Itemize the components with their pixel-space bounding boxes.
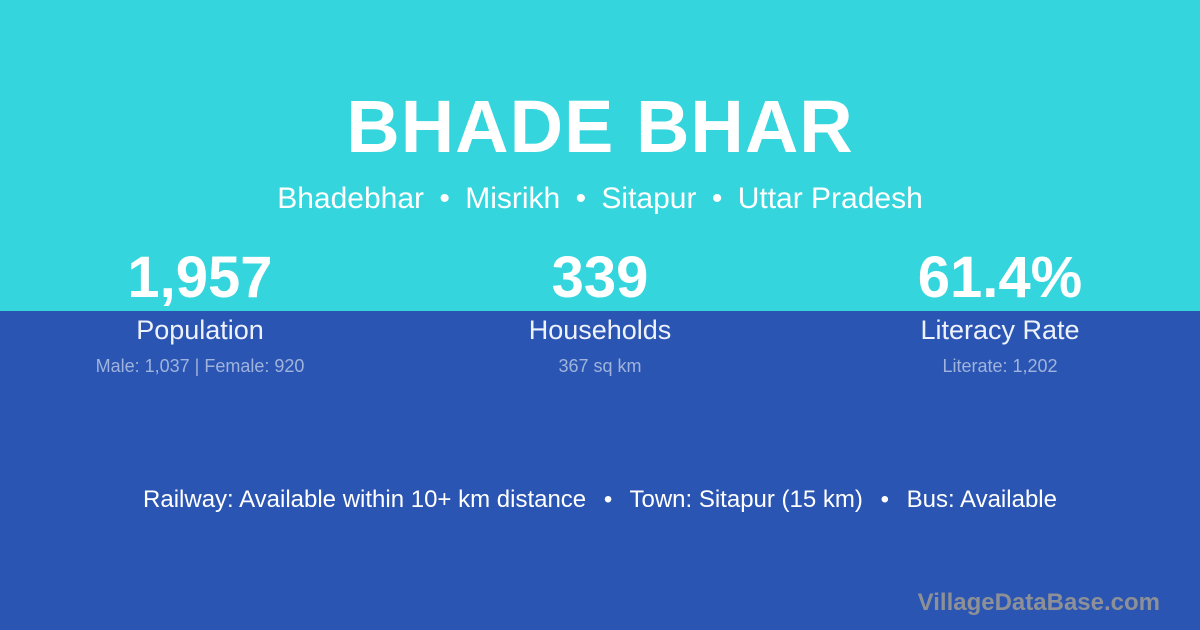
infrastructure-separator-icon: •	[870, 486, 900, 513]
infrastructure-bus: Bus: Available	[907, 486, 1057, 513]
stat-sublabel: Male: 1,037 | Female: 920	[0, 355, 400, 377]
stats-row: 1,957 Population Male: 1,037 | Female: 9…	[0, 246, 1200, 377]
stat-population: 1,957 Population Male: 1,037 | Female: 9…	[0, 246, 400, 377]
infrastructure-town: Town: Sitapur (15 km)	[629, 486, 862, 513]
stat-value: 61.4%	[800, 246, 1200, 310]
breadcrumb-separator-icon: •	[705, 182, 730, 215]
stat-households: 339 Households 367 sq km	[400, 246, 800, 377]
stat-literacy-rate: 61.4% Literacy Rate Literate: 1,202	[800, 246, 1200, 377]
breadcrumb-separator-icon: •	[569, 182, 594, 215]
infrastructure-railway: Railway: Available within 10+ km distanc…	[143, 486, 586, 513]
village-info-card: BHADE BHAR Bhadebhar • Misrikh • Sitapur…	[0, 0, 1200, 630]
breadcrumb-village: Bhadebhar	[277, 182, 424, 215]
infrastructure-separator-icon: •	[593, 486, 623, 513]
stat-label: Literacy Rate	[800, 314, 1200, 346]
stat-value: 339	[400, 246, 800, 310]
stat-label: Households	[400, 314, 800, 346]
stat-value: 1,957	[0, 246, 400, 310]
page-title: BHADE BHAR	[0, 82, 1200, 172]
breadcrumb-district: Sitapur	[601, 182, 696, 215]
site-brand-watermark: VillageDataBase.com	[918, 588, 1160, 618]
stat-sublabel: 367 sq km	[400, 355, 800, 377]
location-breadcrumb: Bhadebhar • Misrikh • Sitapur • Uttar Pr…	[0, 181, 1200, 217]
breadcrumb-separator-icon: •	[432, 182, 457, 215]
breadcrumb-state: Uttar Pradesh	[738, 182, 923, 215]
breadcrumb-block: Misrikh	[465, 182, 560, 215]
stat-label: Population	[0, 314, 400, 346]
stat-sublabel: Literate: 1,202	[800, 355, 1200, 377]
infrastructure-summary: Railway: Available within 10+ km distanc…	[0, 484, 1200, 516]
